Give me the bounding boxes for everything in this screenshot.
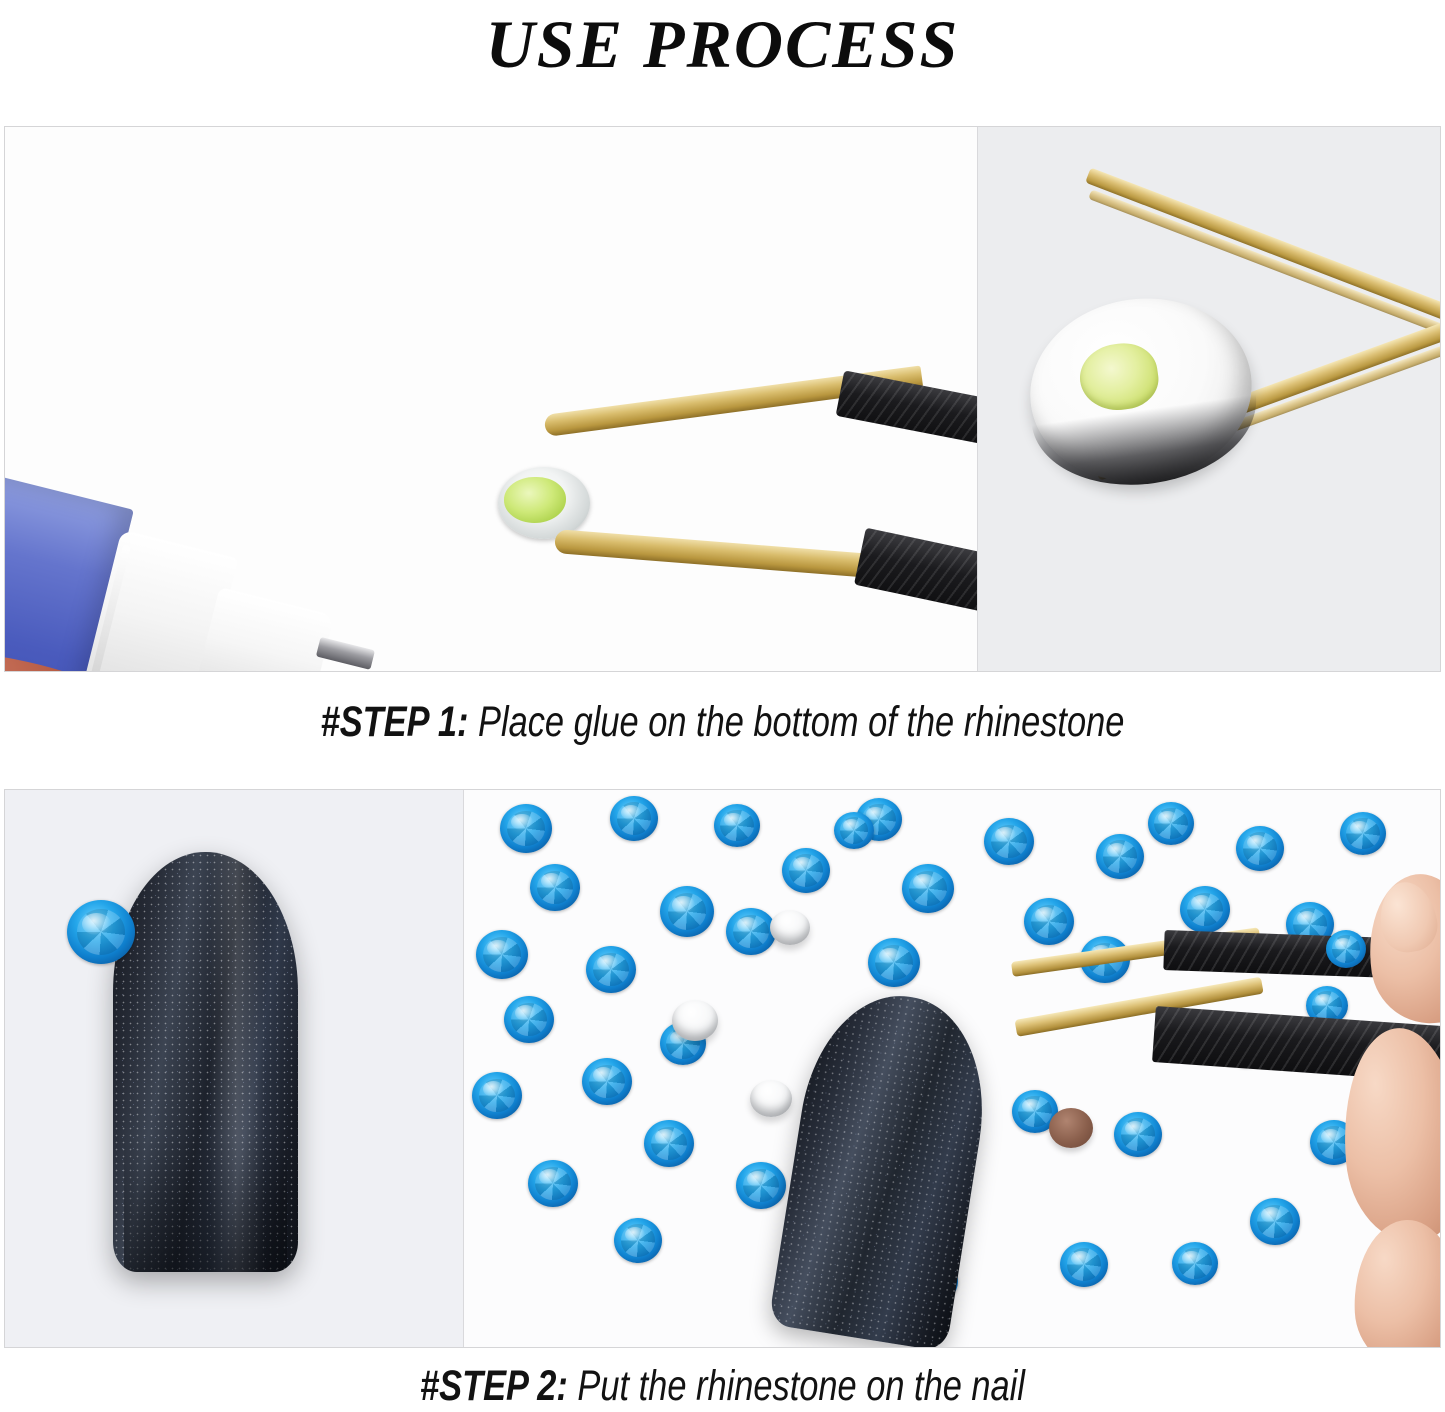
rhinestone-with-glue (498, 467, 590, 539)
rhinestone (610, 796, 658, 841)
rhinestone (1060, 1242, 1108, 1287)
rhinestone (582, 1058, 632, 1105)
step-1-caption-text: Place glue on the bottom of the rhinesto… (468, 698, 1124, 746)
rhinestone (834, 812, 874, 849)
page-title: USE PROCESS (0, 0, 1445, 110)
rhinestone-rim-shadow (1032, 394, 1266, 499)
step-2-photo-block (4, 789, 1441, 1348)
step-1-caption-lead: #STEP 1: (321, 698, 469, 746)
rhinestone (782, 848, 830, 893)
rhinestone (902, 864, 954, 913)
rhinestone (1024, 898, 1074, 945)
rhinestone (660, 886, 714, 937)
press-on-nail (113, 852, 298, 1272)
rhinestone (500, 804, 552, 853)
step-2-caption-text: Put the rhinestone on the nail (568, 1362, 1025, 1410)
rhinestone (1172, 1242, 1218, 1285)
rhinestone-flat-back (750, 1080, 792, 1117)
rhinestone (1096, 834, 1144, 879)
rhinestone (586, 946, 636, 993)
rhinestone-flat-back (672, 1000, 718, 1041)
rhinestone (1114, 1112, 1162, 1157)
rhinestone (1180, 886, 1230, 933)
rhinestone (476, 930, 528, 979)
tweezer-upper-black-handle (836, 370, 977, 533)
rhinestone-face-down (1049, 1108, 1093, 1148)
rhinestone (528, 1160, 578, 1207)
rhinestone-flat-back (1018, 284, 1263, 495)
step-1-photo-block: G Rh (4, 126, 1441, 672)
step-2-caption-lead: #STEP 2: (420, 1362, 568, 1410)
rhinestone (984, 818, 1034, 865)
handle-texture (854, 528, 977, 671)
rhinestone (868, 938, 920, 987)
rhinestone (472, 1072, 522, 1119)
rhinestone (736, 1162, 786, 1209)
nail-tip-shadow (124, 1138, 287, 1272)
glue-bottle: G Rh (5, 449, 357, 671)
rhinestone (530, 864, 580, 911)
rhinestone (1340, 812, 1386, 855)
rhinestone-scatter-photo (464, 790, 1440, 1347)
black-nail-with-gem-photo (5, 790, 463, 1347)
step-1-caption: #STEP 1: Place glue on the bottom of the… (145, 698, 1301, 747)
rhinestone (726, 908, 776, 955)
rhinestone (714, 804, 760, 847)
rhinestone (504, 996, 554, 1043)
rhinestone (1250, 1198, 1300, 1245)
applied-rhinestone (67, 900, 135, 964)
rhinestone (1148, 802, 1194, 845)
glue-blob (1076, 339, 1162, 415)
rhinestone (1236, 826, 1284, 871)
glue-gel-drop (504, 477, 566, 523)
step-2-caption: #STEP 2: Put the rhinestone on the nail (145, 1362, 1301, 1411)
handle-texture (836, 370, 977, 533)
tweezers-holding-stone-photo (978, 127, 1440, 671)
rhinestone-flat-back (770, 910, 810, 945)
infographic-page: USE PROCESS G Rh (0, 0, 1445, 1412)
glue-bottle-photo: G Rh (5, 127, 977, 671)
tweezer-lower-black-handle (854, 528, 977, 671)
rhinestone-in-tweezers (1326, 930, 1366, 968)
metal-applicator-tip (316, 637, 375, 670)
rhinestone (614, 1218, 662, 1263)
rhinestone (644, 1120, 694, 1167)
